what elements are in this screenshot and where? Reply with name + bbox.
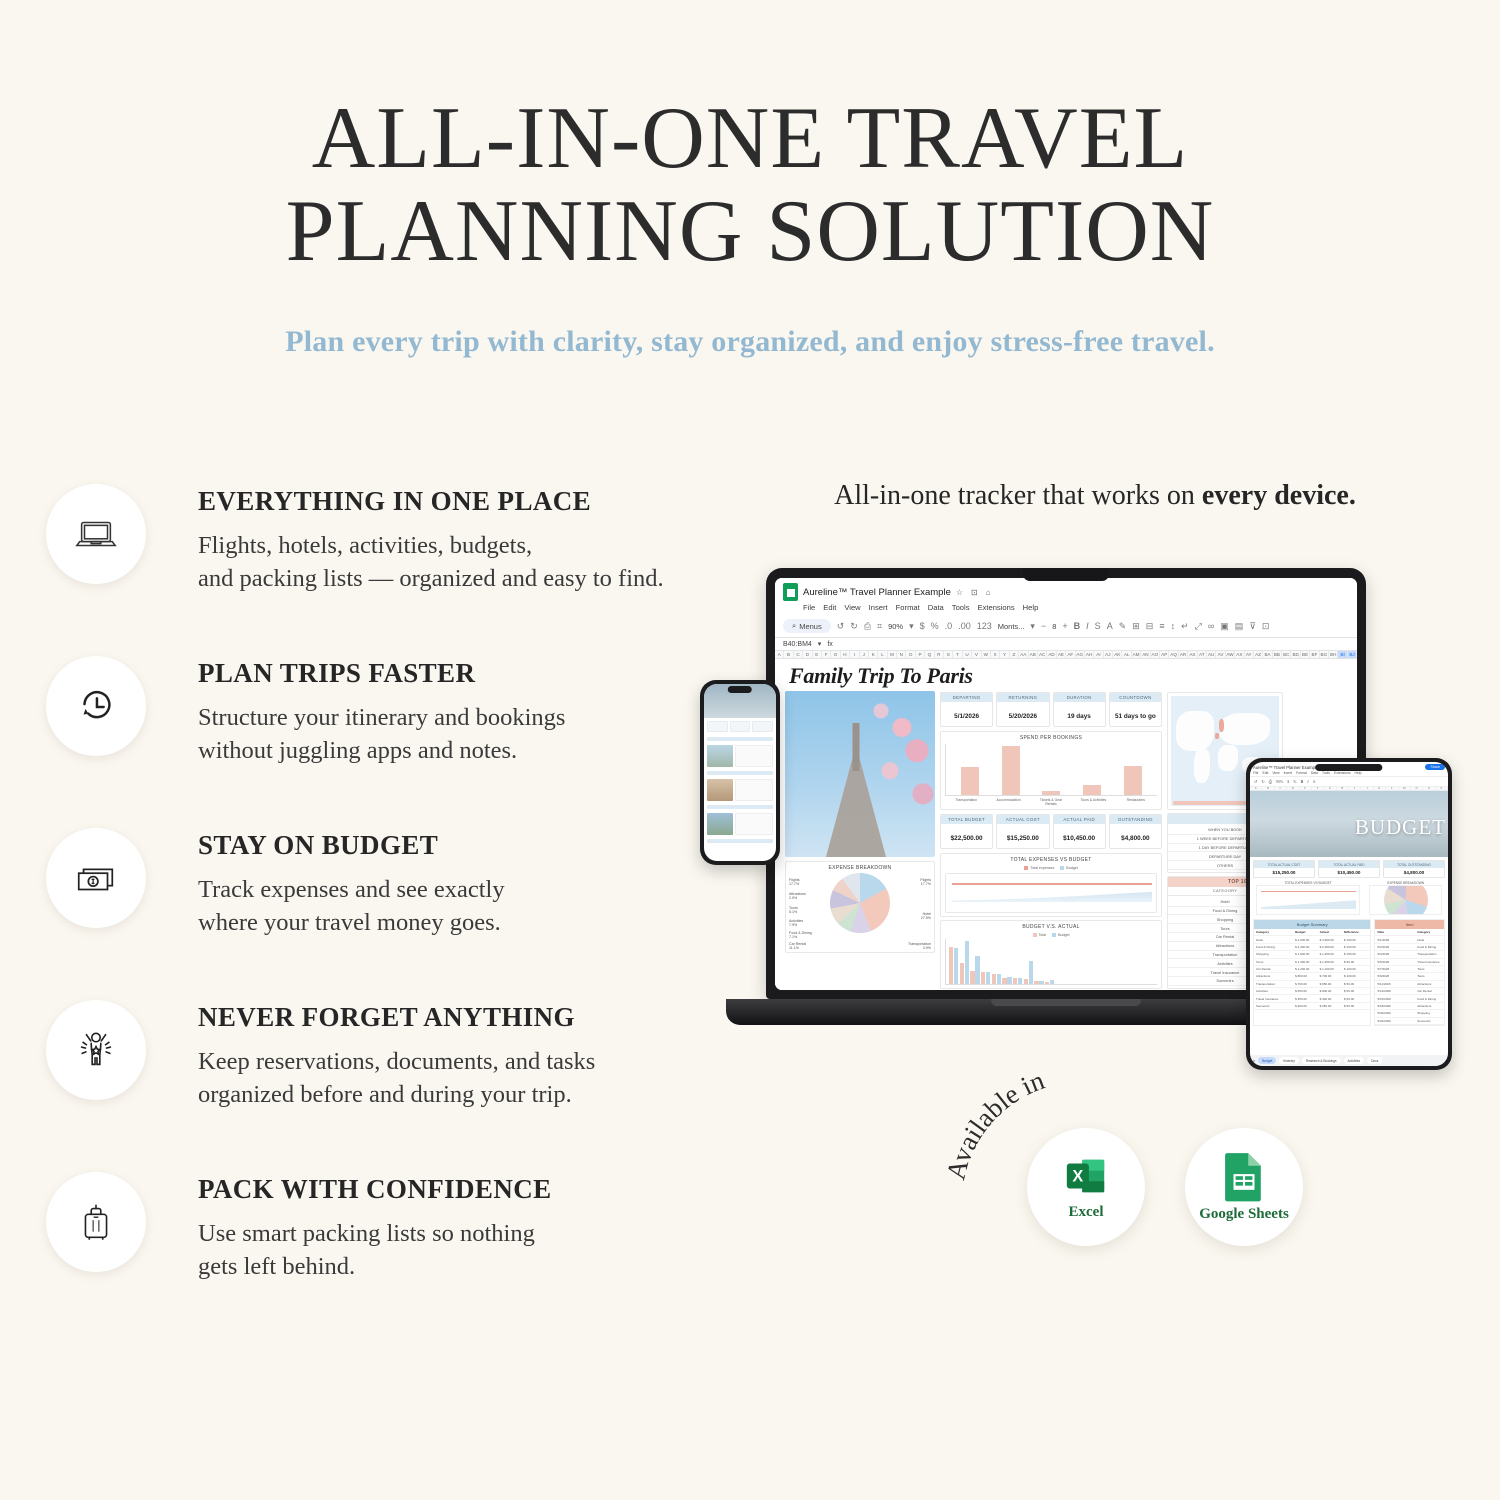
expenses-log-table: Item Date Category 5/1/2026Hotel 5/2/202… [1374, 919, 1445, 1026]
bar-group [970, 956, 979, 984]
cell-category: Hotel [1256, 938, 1295, 942]
col-header[interactable]: BB [1273, 651, 1282, 658]
pie-label: Flights17.7% [789, 878, 800, 887]
name-box-chevron-icon[interactable]: ▾ [818, 640, 822, 648]
map-landmass [1176, 711, 1214, 751]
kpi-card: COUNTDOWN 51 days to go [1109, 692, 1162, 727]
search-menus-pill[interactable]: ⌕ Menus [783, 619, 831, 633]
col-header[interactable]: AL [1122, 651, 1131, 658]
insert-chart-icon[interactable]: ▤ [1235, 621, 1244, 632]
col-header[interactable]: L [878, 651, 887, 658]
print-icon[interactable]: ⎙ [864, 621, 871, 632]
col-header[interactable]: AI [1094, 651, 1103, 658]
cell-budget: $ 300.00 [1295, 1004, 1319, 1008]
dashboard-center-column: DEPARTING 5/1/2026 RETURNING 5/20/2026 D… [940, 691, 1162, 989]
insert-comment-icon[interactable]: ▣ [1220, 621, 1229, 632]
share-button[interactable]: Share [1425, 764, 1445, 770]
legend-item: Total expenses [1024, 866, 1054, 870]
sheet-tab-docs[interactable]: Docs [1367, 1057, 1382, 1064]
col-header[interactable]: AD [1047, 651, 1056, 658]
col-header[interactable]: AA [1019, 651, 1028, 658]
cell-category: Attractions [1256, 974, 1295, 978]
italic-icon[interactable]: I [1307, 779, 1308, 784]
menu-data[interactable]: Data [1311, 771, 1318, 775]
bold-icon[interactable]: B [1301, 779, 1304, 784]
map-highlight-pin [1215, 733, 1219, 739]
kpi-value: 5/1/2026 [954, 713, 979, 720]
phone-notch [1315, 764, 1382, 771]
cell-category: Shopping [1256, 952, 1295, 956]
vertical-align-icon[interactable]: ↕ [1171, 621, 1176, 631]
col-header[interactable]: Q [925, 651, 934, 658]
menu-edit[interactable]: Edit [823, 603, 836, 612]
bar-label: Accommodation [994, 798, 1024, 806]
col-header[interactable]: G [1324, 787, 1336, 790]
col-header[interactable]: AN [1141, 651, 1150, 658]
cell-category: Tours [1256, 960, 1295, 964]
sheet-tab-budget[interactable]: Budget [1258, 1057, 1276, 1064]
col-header[interactable]: L [1386, 787, 1398, 790]
kpi-value: $10,450.00 [1319, 870, 1379, 875]
feature-item: PACK WITH CONFIDENCE Use smart packing l… [46, 1168, 726, 1294]
redo-icon[interactable]: ↻ [1261, 779, 1264, 784]
strikethrough-icon[interactable]: S [1095, 621, 1101, 631]
expense-breakdown-chart: EXPENSE BREAKDOWN Flights17.7% Attractio… [785, 861, 935, 953]
cell-category: Attractions [1417, 1004, 1442, 1008]
laptop-icon [46, 484, 146, 584]
col-header[interactable]: AT [1198, 651, 1207, 658]
kpi-value: $15,250.00 [1007, 835, 1039, 842]
col-header[interactable]: BG [1320, 651, 1329, 658]
cell-budget: $ 650.00 [1295, 989, 1319, 993]
eiffel-tower-photo [785, 691, 935, 857]
name-box[interactable]: B40:BM4 [783, 641, 812, 648]
map-landmass [1218, 745, 1238, 771]
col-header[interactable]: BH [1329, 651, 1338, 658]
table-row: 5/2/2026Food & Dining [1375, 944, 1444, 951]
col-header[interactable]: BE [1301, 651, 1310, 658]
col-header[interactable]: J [860, 651, 869, 658]
kpi-label: RETURNING [997, 693, 1048, 702]
menu-view[interactable]: View [844, 603, 860, 612]
col-header[interactable]: H [841, 651, 850, 658]
table-row: 5/15/2026Food & Dining [1375, 995, 1444, 1002]
col-header[interactable]: BA [1263, 651, 1272, 658]
col-header[interactable]: BD [1291, 651, 1300, 658]
suitcase-icon [46, 1172, 146, 1272]
zoom-level[interactable]: 90% [888, 622, 903, 631]
paint-format-icon[interactable]: ⌗ [877, 621, 882, 632]
chart-legend: Total expenses Budget [945, 866, 1157, 870]
itinerary-details [735, 779, 773, 801]
kpi-card: OUTSTANDING $4,800.00 [1109, 814, 1162, 849]
cell-actual: $ 250.00 [1320, 1004, 1344, 1008]
budget-vs-actual-chart: BUDGET V.S. ACTUAL Total Budget [940, 920, 1162, 989]
cell-budget: $ 1,200.00 [1295, 967, 1319, 971]
menu-view[interactable]: View [1272, 771, 1279, 775]
col-header[interactable]: T [953, 651, 962, 658]
google-sheets-label: Google Sheets [1199, 1206, 1289, 1223]
menu-insert[interactable]: Insert [869, 603, 888, 612]
cell-diff: $ 150.00 [1344, 952, 1368, 956]
fill-color-icon[interactable]: ✎ [1119, 621, 1127, 632]
trip-kpi-row: DEPARTING 5/1/2026 RETURNING 5/20/2026 D… [940, 692, 1162, 727]
pie-label: Hotel27.5% [921, 912, 931, 921]
cell-diff: $ 100.00 [1344, 945, 1368, 949]
font-chevron-icon[interactable]: ▾ [1030, 621, 1035, 632]
col-header[interactable]: AB [1029, 651, 1038, 658]
col-header[interactable]: AK [1113, 651, 1122, 658]
column-headers[interactable]: ABCDEFGHIJKLMNOPQRSTUVWXYZAAABACADAEAFAG… [775, 651, 1357, 659]
col-header[interactable]: G [831, 651, 840, 658]
cell-category: Souvenirs [1417, 1019, 1442, 1023]
bar [1124, 766, 1142, 795]
cell-actual: $ 2,300.00 [1320, 945, 1344, 949]
zoom-level[interactable]: 90% [1276, 779, 1283, 784]
sheet-tab-bar[interactable]: ≡ Budget Itinerary Research & Bookings A… [1250, 1055, 1448, 1066]
cell-actual: $ 1,100.00 [1320, 967, 1344, 971]
excel-badge[interactable]: X Excel [1027, 1128, 1145, 1246]
col-header[interactable]: AH [1085, 651, 1094, 658]
col-header[interactable]: AM [1132, 651, 1141, 658]
cell-date: 5/1/2026 [1377, 938, 1417, 942]
col-header[interactable]: S [944, 651, 953, 658]
kpi-card: TOTAL ACTUAL COST $15,250.00 [1253, 860, 1315, 878]
more-formats-icon[interactable]: 123 [977, 621, 992, 631]
cell-budget: $ 2,400.00 [1295, 945, 1319, 949]
filter-icon[interactable]: ⊽ [1249, 621, 1256, 632]
budget-area [952, 890, 1152, 902]
chart-title: SPEND PER BOOKINGS [945, 735, 1157, 741]
phone-toolbar[interactable]: ↺ ↻ ⎙ 90% $ % B I A [1250, 776, 1448, 787]
cell-category: Souvenirs [1256, 1004, 1295, 1008]
itinerary-photo [707, 813, 733, 835]
col-header[interactable]: AF [1066, 651, 1075, 658]
map-landmass [1220, 713, 1270, 745]
undo-icon[interactable]: ↺ [1254, 779, 1257, 784]
menu-help[interactable]: Help [1355, 771, 1362, 775]
sheet-tab-itinerary[interactable]: Itinerary [1279, 1057, 1299, 1064]
cell-budget: $ 700.00 [1295, 982, 1319, 986]
italic-icon[interactable]: I [1086, 621, 1089, 631]
google-sheets-icon [1223, 1151, 1265, 1201]
col-header[interactable]: A [775, 651, 784, 658]
cell-category: Transportation [1417, 952, 1442, 956]
col-header[interactable]: AY [1245, 651, 1254, 658]
itinerary-entry [704, 811, 776, 837]
menu-help[interactable]: Help [1023, 603, 1039, 612]
menu-data[interactable]: Data [928, 603, 944, 612]
chart-title: TOTAL EXPENSES VS BUDGET [945, 857, 1157, 863]
col-header-selected[interactable]: BI [1338, 651, 1347, 658]
table-row: 5/20/2026Shopping [1375, 1010, 1444, 1017]
table-header-row: Date Category [1375, 929, 1444, 936]
col-header[interactable]: X [991, 651, 1000, 658]
col-header[interactable]: N [897, 651, 906, 658]
table-row: 5/7/2026Tours [1375, 966, 1444, 973]
col-header[interactable]: K [869, 651, 878, 658]
col-header[interactable]: AX [1235, 651, 1244, 658]
col-header[interactable]: P [1436, 787, 1448, 790]
col-header[interactable]: O [906, 651, 915, 658]
spend-per-bookings-chart: SPEND PER BOOKINGS Transportation [940, 731, 1162, 810]
kpi-label: TOTAL ACTUAL PAID [1319, 861, 1379, 868]
sheet-tab-activities[interactable]: Activities [1344, 1057, 1365, 1064]
menu-edit[interactable]: Edit [1262, 771, 1268, 775]
bar [1083, 785, 1101, 795]
pie-label: Car Rental11.1% [789, 942, 806, 951]
col-header[interactable]: D [1287, 787, 1299, 790]
col-header[interactable]: Y [1000, 651, 1009, 658]
table-title: Budget Summary [1254, 920, 1370, 929]
col-header[interactable]: O [1423, 787, 1435, 790]
th-category: Category [1256, 930, 1295, 934]
col-header[interactable]: BC [1282, 651, 1291, 658]
doc-action-icons[interactable]: ☆ ⊡ ⌂ [956, 588, 994, 597]
col-header[interactable]: C [1275, 787, 1287, 790]
kpi-card: DURATION 19 days [1053, 692, 1106, 727]
menu-extensions[interactable]: Extensions [978, 603, 1015, 612]
decimal-increase-icon[interactable]: .00 [958, 621, 971, 631]
cell-category: Transportation [1256, 982, 1295, 986]
menu-file[interactable]: File [1253, 771, 1258, 775]
menu-format[interactable]: Format [896, 603, 920, 612]
undo-icon[interactable]: ↺ [837, 621, 845, 632]
col-header[interactable]: Z [1010, 651, 1019, 658]
col-header[interactable]: C [794, 651, 803, 658]
feature-title: STAY ON BUDGET [198, 830, 505, 861]
chevron-down-icon[interactable]: ▾ [909, 621, 914, 632]
cell-diff: $ 50.00 [1344, 989, 1368, 993]
col-header[interactable]: H [1337, 787, 1349, 790]
currency-icon[interactable]: $ [1287, 779, 1289, 784]
cell-date: 5/15/2026 [1377, 997, 1417, 1001]
cell-date: 5/18/2026 [1377, 1004, 1417, 1008]
col-header[interactable]: AE [1057, 651, 1066, 658]
kpi-label: TOTAL ACTUAL COST [1254, 861, 1314, 868]
tagline-bold: every device. [1202, 480, 1356, 511]
all-sheets-icon[interactable]: ≡ [1253, 1058, 1255, 1063]
kpi-label: ACTUAL COST [997, 815, 1048, 824]
table-row: Car Rental$ 1,200.00$ 1,100.00$ 100.00 [1254, 966, 1370, 973]
phone-device-left [700, 680, 780, 865]
col-header[interactable]: AO [1151, 651, 1160, 658]
sheet-tab-research-bookings[interactable]: Research & Bookings [1302, 1057, 1341, 1064]
menu-file[interactable]: File [803, 603, 815, 612]
phone-document-title[interactable]: Aureline™ Travel Planner Example [1253, 765, 1318, 770]
cell-actual: $ 3,900.00 [1320, 938, 1344, 942]
bar [1042, 791, 1060, 795]
bar-group [949, 947, 958, 984]
cell-category: Hotel [1417, 938, 1442, 942]
col-header[interactable]: AC [1038, 651, 1047, 658]
text-color-icon[interactable]: A [1313, 779, 1316, 784]
col-header[interactable]: E [1300, 787, 1312, 790]
table-row: Travel Insurance$ 350.00$ 300.00$ 50.00 [1254, 995, 1370, 1002]
clock-history-icon [46, 656, 146, 756]
font-size[interactable]: 8 [1052, 622, 1056, 631]
col-header[interactable]: D [803, 651, 812, 658]
col-header[interactable]: W [982, 651, 991, 658]
col-header[interactable]: AJ [1104, 651, 1113, 658]
budget-kpi-row: TOTAL ACTUAL COST $15,250.00 TOTAL ACTUA… [1250, 857, 1448, 881]
pie-graphic [830, 873, 890, 933]
sheets-toolbar[interactable]: ⌕ Menus ↺ ↻ ⎙ ⌗ 90% ▾ $ % .0 .00 123 Mon… [775, 615, 1357, 637]
menu-insert[interactable]: Insert [1284, 771, 1292, 775]
col-header[interactable]: U [963, 651, 972, 658]
table-row: Transportation$ 700.00$ 650.00$ 50.00 [1254, 981, 1370, 988]
text-color-icon[interactable]: A [1107, 621, 1113, 631]
cell-category: Travel Insurance [1256, 997, 1295, 1001]
cell-date: 5/13/2026 [1377, 989, 1417, 993]
th-category: Category [1417, 930, 1442, 934]
col-header[interactable]: F [1312, 787, 1324, 790]
cell-category: Food & Dining [1417, 945, 1442, 949]
col-header[interactable]: A [1250, 787, 1262, 790]
table-row: 5/18/2026Attractions [1375, 1003, 1444, 1010]
cell-actual: $ 700.00 [1320, 974, 1344, 978]
menu-extensions[interactable]: Extensions [1334, 771, 1351, 775]
kpi-label: TOTAL OUTSTANDING [1384, 861, 1444, 868]
table-header-row: Item [1375, 920, 1444, 929]
table-row: 5/1/2026Hotel [1375, 936, 1444, 943]
bar-group [1002, 977, 1011, 984]
itinerary-details [735, 745, 773, 767]
percent-icon[interactable]: % [1293, 779, 1296, 784]
col-header[interactable]: P [916, 651, 925, 658]
bar-group [1013, 978, 1022, 984]
cell-date: 5/5/2026 [1377, 960, 1417, 964]
expenses-line [952, 883, 1152, 884]
col-header[interactable]: F [822, 651, 831, 658]
table-row: Hotel$ 4,000.00$ 3,900.00$ 100.00 [1254, 936, 1370, 943]
col-header[interactable]: AU [1207, 651, 1216, 658]
cell-date: 5/22/2026 [1377, 1019, 1417, 1023]
functions-icon[interactable]: ⊡ [1262, 621, 1270, 632]
pie-label: Activities7.9% [789, 919, 803, 928]
google-sheets-badge[interactable]: Google Sheets [1185, 1128, 1303, 1246]
borders-icon[interactable]: ⊞ [1132, 621, 1140, 632]
col-header[interactable]: B [784, 651, 793, 658]
budget-hero-title: BUDGET [1355, 815, 1446, 840]
col-header[interactable]: M [888, 651, 897, 658]
col-header-selected[interactable]: BJ [1348, 651, 1357, 658]
cell-category: Shopping [1417, 1011, 1442, 1015]
col-header[interactable]: AV [1216, 651, 1225, 658]
svg-text:X: X [1072, 1167, 1083, 1185]
cell-category: Food & Dining [1417, 997, 1442, 1001]
cell-date: 5/11/2026 [1377, 982, 1417, 986]
table-row: 5/13/2026Car Rental [1375, 988, 1444, 995]
col-header[interactable]: AW [1226, 651, 1235, 658]
col-header[interactable]: AS [1188, 651, 1197, 658]
menu-tools[interactable]: Tools [952, 603, 970, 612]
col-header[interactable]: M [1399, 787, 1411, 790]
print-icon[interactable]: ⎙ [1269, 779, 1272, 784]
merge-cells-icon[interactable]: ⊟ [1146, 621, 1154, 632]
table-row: Attractions$ 800.00$ 700.00$ 100.00 [1254, 973, 1370, 980]
laptop-camera-notch [1023, 568, 1109, 581]
font-name[interactable]: Monts... [998, 622, 1025, 631]
col-header[interactable]: AG [1076, 651, 1085, 658]
itinerary-kpi-card [730, 721, 751, 732]
menu-format[interactable]: Format [1296, 771, 1307, 775]
itinerary-photo [707, 779, 733, 801]
text-rotation-icon[interactable]: ⤢ [1195, 621, 1202, 632]
col-header[interactable]: I [850, 651, 859, 658]
chart-legend: Total Budget [945, 933, 1157, 937]
menu-tools[interactable]: Tools [1322, 771, 1330, 775]
kpi-value: $22,500.00 [951, 835, 983, 842]
cell-date: 5/7/2026 [1377, 967, 1417, 971]
bar-label: Tickets & Gear Rentals [1036, 798, 1066, 806]
phone-line-chart: TOTAL EXPENSES VS BUDGET [1253, 881, 1363, 915]
pie-graphic [1384, 885, 1428, 915]
col-header[interactable]: K [1374, 787, 1386, 790]
feature-item: EVERYTHING IN ONE PLACE Flights, hotels,… [46, 480, 726, 606]
pie-plot-area [1369, 885, 1442, 915]
currency-icon[interactable]: $ [920, 621, 925, 631]
page-title: ALL-IN-ONE TRAVEL PLANNING SOLUTION [0, 92, 1500, 279]
font-size-increase-icon[interactable]: + [1062, 621, 1067, 631]
feature-item: STAY ON BUDGET Track expenses and see ex… [46, 824, 726, 950]
budget-hero-image: BUDGET [1250, 791, 1448, 857]
percent-icon[interactable]: % [931, 621, 939, 631]
bold-icon[interactable]: B [1074, 621, 1081, 631]
table-row: Activities$ 650.00$ 600.00$ 50.00 [1254, 988, 1370, 995]
col-header[interactable]: BF [1310, 651, 1319, 658]
decimal-decrease-icon[interactable]: .0 [945, 621, 953, 631]
menu-bar[interactable]: File Edit View Insert Format Data Tools … [803, 603, 1349, 612]
cell-date: 5/20/2026 [1377, 1011, 1417, 1015]
col-header[interactable]: V [972, 651, 981, 658]
table-row: Tours$ 1,400.00$ 1,350.00$ 50.00 [1254, 959, 1370, 966]
col-header[interactable]: N [1411, 787, 1423, 790]
th-date: Date [1377, 930, 1417, 934]
insert-link-icon[interactable]: ∞ [1208, 621, 1214, 631]
col-header[interactable]: J [1361, 787, 1373, 790]
redo-icon[interactable]: ↻ [850, 621, 858, 632]
col-header[interactable]: E [813, 651, 822, 658]
col-header[interactable]: R [935, 651, 944, 658]
cell-category: Tours [1417, 974, 1442, 978]
col-header[interactable]: I [1349, 787, 1361, 790]
cell-category: Car Rental [1417, 989, 1442, 993]
col-header[interactable]: AZ [1254, 651, 1263, 658]
font-size-decrease-icon[interactable]: − [1041, 621, 1046, 631]
th-actual: Actual [1320, 930, 1344, 934]
col-header[interactable]: B [1262, 787, 1274, 790]
col-header[interactable]: AQ [1169, 651, 1178, 658]
kpi-value: $15,250.00 [1254, 870, 1314, 875]
cell-category: Attractions [1417, 982, 1442, 986]
col-header[interactable]: AR [1179, 651, 1188, 658]
itinerary-day-header [707, 839, 773, 843]
horizontal-align-icon[interactable]: ≡ [1159, 621, 1164, 631]
kpi-value: $4,800.00 [1121, 835, 1149, 842]
text-wrap-icon[interactable]: ↵ [1181, 621, 1189, 632]
document-title[interactable]: Aureline™ Travel Planner Example [803, 587, 951, 598]
col-header[interactable]: AP [1160, 651, 1169, 658]
chart-title: EXPENSE BREAKDOWN [786, 862, 934, 871]
cell-budget: $ 4,000.00 [1295, 938, 1319, 942]
formula-bar[interactable]: B40:BM4 ▾ fx [775, 637, 1357, 651]
bar-group [992, 974, 1001, 984]
itinerary-day-header [707, 771, 773, 775]
kpi-card: TOTAL ACTUAL PAID $10,450.00 [1318, 860, 1380, 878]
feature-description: Track expenses and see exactly where you… [198, 874, 505, 940]
bar-group [1045, 980, 1054, 984]
